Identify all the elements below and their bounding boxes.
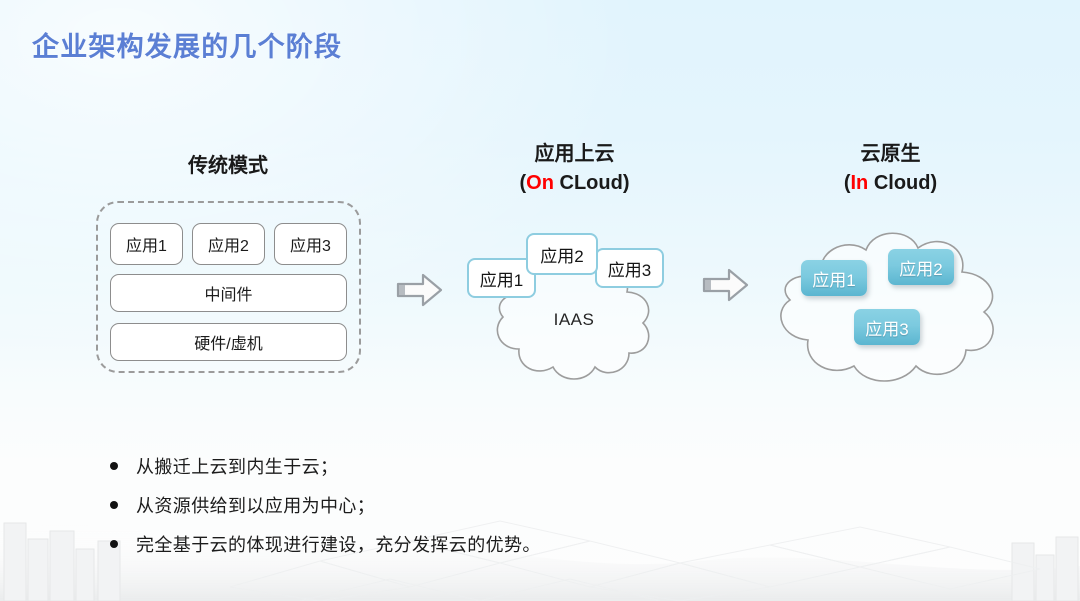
stage-heading-incloud: 云原生 (In Cloud) [768,140,1013,198]
iaas-cloud-label: IAAS [483,310,665,330]
native-cloud-shape [768,222,1013,386]
traditional-app-box-3[interactable]: 应用3 [274,223,347,265]
oncloud-paren-close: ) [623,172,630,194]
oncloud-app-box-3[interactable]: 应用3 [595,248,664,288]
slide-canvas: 企业架构发展的几个阶段 传统模式 应用1 应用2 应用3 中间件 硬件/虚机 应… [0,0,1080,601]
arrow-trad-to-oncloud-icon [396,272,444,308]
traditional-app-row: 应用1 应用2 应用3 [110,223,347,265]
incloud-app-box-2[interactable]: 应用2 [888,249,954,285]
traditional-layer-middleware[interactable]: 中间件 [110,274,347,312]
stage-heading-traditional-line1: 传统模式 [108,152,348,181]
incloud-app-box-3[interactable]: 应用3 [854,309,920,345]
list-item: 完全基于云的体现进行建设，充分发挥云的优势。 [110,531,541,557]
bullet-dot-icon [110,462,118,470]
stage-heading-oncloud-line2: (On CLoud) [452,169,697,198]
incloud-keyword-black: Cloud [868,172,930,194]
stage-heading-incloud-line1: 云原生 [768,140,1013,169]
stage-heading-traditional: 传统模式 [108,152,348,181]
incloud-keyword-red: In [851,172,869,194]
bullet-dot-icon [110,501,118,509]
list-item: 从资源供给到以应用为中心； [110,492,541,518]
list-item: 从搬迁上云到内生于云； [110,453,541,479]
bullet-dot-icon [110,540,118,548]
stage-heading-incloud-line2: (In Cloud) [768,169,1013,198]
bullet-text: 从资源供给到以应用为中心； [136,492,375,518]
traditional-layer-hardware[interactable]: 硬件/虚机 [110,323,347,361]
stage-heading-oncloud-line1: 应用上云 [452,140,697,169]
traditional-app-box-2[interactable]: 应用2 [192,223,265,265]
oncloud-keyword-black: CLoud [554,172,623,194]
stage-heading-oncloud: 应用上云 (On CLoud) [452,140,697,198]
oncloud-keyword-red: On [526,172,554,194]
oncloud-app-box-2[interactable]: 应用2 [526,233,598,275]
incloud-app-box-1[interactable]: 应用1 [801,260,867,296]
traditional-app-box-1[interactable]: 应用1 [110,223,183,265]
incloud-paren-open: ( [844,172,851,194]
incloud-paren-close: ) [931,172,938,194]
bullet-text: 从搬迁上云到内生于云； [136,453,338,479]
bullet-text: 完全基于云的体现进行建设，充分发挥云的优势。 [136,531,541,557]
arrow-oncloud-to-incloud-icon [702,267,750,303]
bullet-list: 从搬迁上云到内生于云； 从资源供给到以应用为中心； 完全基于云的体现进行建设，充… [110,453,541,570]
page-title: 企业架构发展的几个阶段 [32,25,342,64]
